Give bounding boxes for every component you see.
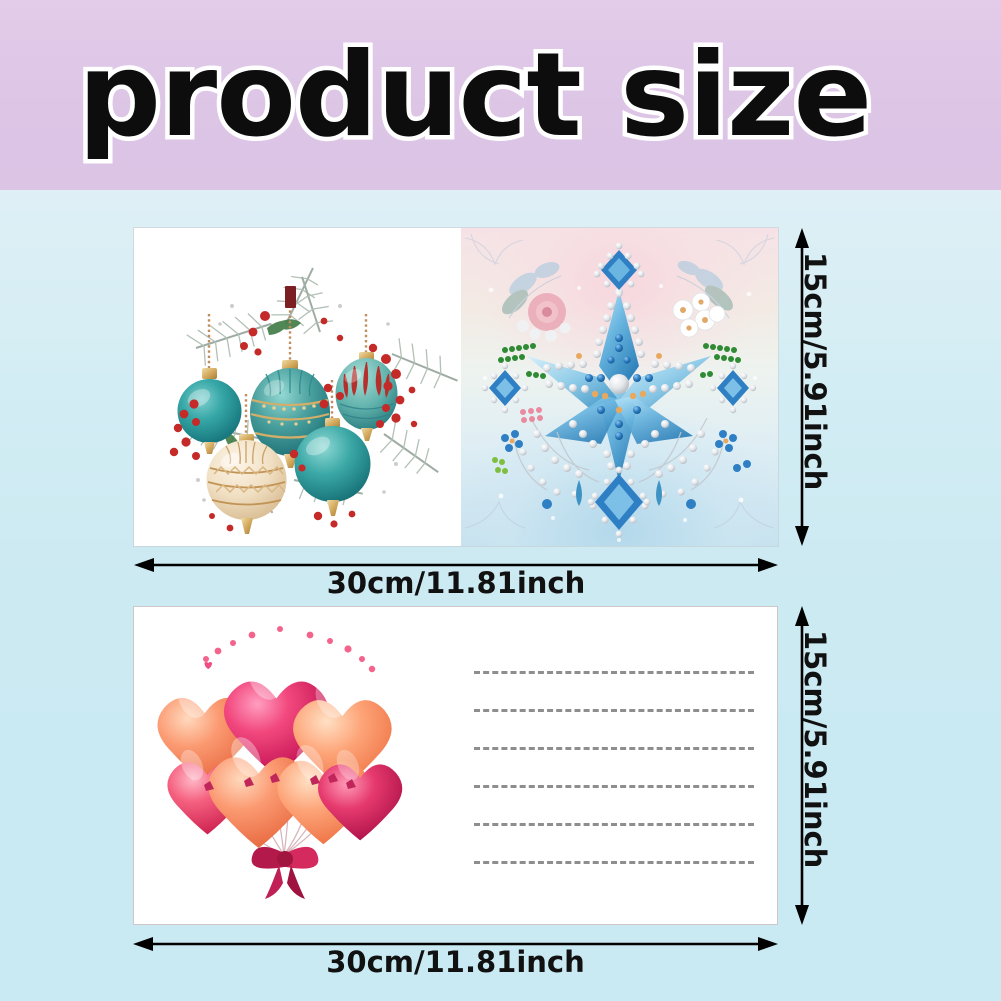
heart-balloons-artwork [134, 607, 456, 924]
page-title: product size [78, 36, 948, 156]
top-card [134, 228, 778, 546]
write-line-4 [474, 785, 754, 788]
ornament-lantern-right [336, 352, 398, 441]
write-line-2 [474, 709, 754, 712]
bottom-card-width-label: 30cm/11.81inch [133, 945, 778, 979]
ribbon-bow [252, 847, 319, 899]
snowflake-diamond-art [461, 228, 778, 546]
product-size-infographic: product size [0, 0, 1001, 1001]
top-card-width-label: 30cm/11.81inch [134, 566, 778, 600]
bottom-pendant-diamond [590, 467, 649, 538]
bottom-card-height-label: 15cm/5.91inch [798, 630, 832, 868]
message-writing-area[interactable] [456, 607, 778, 924]
pink-bead-square [520, 407, 543, 423]
top-card-height-label: 15cm/5.91inch [798, 252, 832, 490]
header-band: product size [0, 0, 1001, 190]
heart-balloons-illustration [134, 607, 456, 924]
bottom-card [133, 606, 778, 925]
top-diamond-motif [594, 243, 645, 298]
write-line-3 [474, 747, 754, 750]
write-line-6 [474, 861, 754, 864]
write-line-5 [474, 823, 754, 826]
christmas-ornaments-artwork [134, 228, 461, 546]
write-line-1 [474, 671, 754, 674]
ornaments-illustration [134, 228, 461, 546]
snowflake-mandala-artwork [461, 228, 778, 546]
